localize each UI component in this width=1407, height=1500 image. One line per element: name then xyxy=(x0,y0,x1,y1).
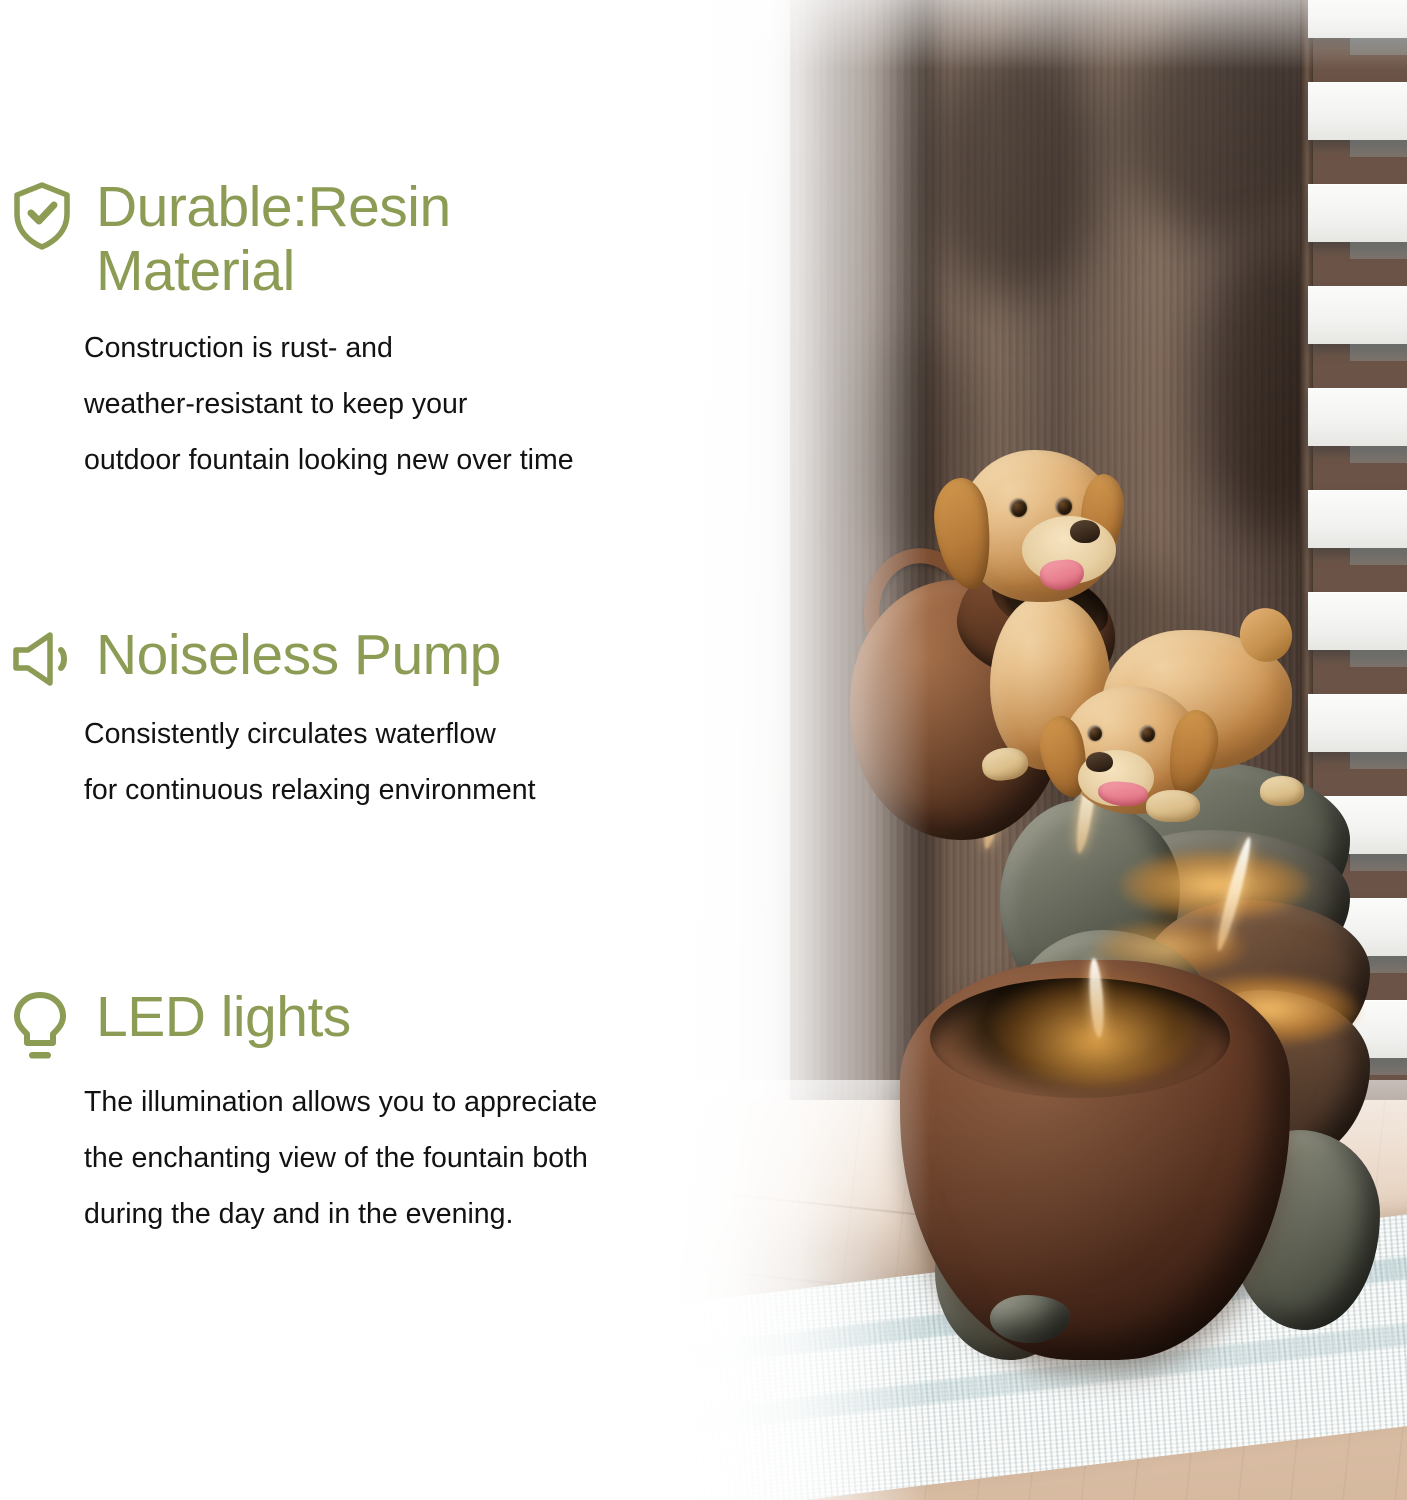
feature-title: LED lights xyxy=(96,986,696,1050)
led-water-pool xyxy=(1120,850,1310,920)
feature-item-noiseless-pump: Noiseless Pump Consistently circulates w… xyxy=(0,624,720,818)
puppy-eye-left xyxy=(1010,499,1027,517)
puppy2-nose xyxy=(1086,752,1113,772)
product-feature-infographic: Durable:Resin Material Construction is r… xyxy=(0,0,1407,1500)
speaker-sound-icon xyxy=(10,628,74,700)
puppy2-eye-right xyxy=(1140,726,1155,742)
louver-slat xyxy=(1308,286,1407,344)
feature-item-durable-resin: Durable:Resin Material Construction is r… xyxy=(0,176,720,488)
feature-list: Durable:Resin Material Construction is r… xyxy=(0,0,720,1500)
feature-description: The illumination allows you to appreciat… xyxy=(84,1074,720,1242)
feature-item-led-lights: LED lights The illumination allows you t… xyxy=(0,986,720,1242)
lightbulb-icon xyxy=(10,990,74,1062)
louver-slat xyxy=(1308,184,1407,242)
feature-description: Construction is rust- and weather-resist… xyxy=(84,320,720,488)
puppy2-paw-front xyxy=(1146,790,1200,822)
feature-description: Consistently circulates waterflow for co… xyxy=(84,706,720,818)
feature-title: Noiseless Pump xyxy=(96,624,696,688)
photo-top-white-fade xyxy=(600,0,1407,70)
puppy2-eye-left xyxy=(1088,726,1102,741)
shield-check-icon xyxy=(10,180,74,252)
louver-slat xyxy=(1308,82,1407,140)
feature-title: Durable:Resin Material xyxy=(96,176,566,304)
puppy2-paw-rear xyxy=(1260,776,1304,806)
puppy-nose xyxy=(1070,520,1100,543)
product-photo xyxy=(600,0,1407,1500)
puppy-eye-right xyxy=(1056,498,1072,515)
